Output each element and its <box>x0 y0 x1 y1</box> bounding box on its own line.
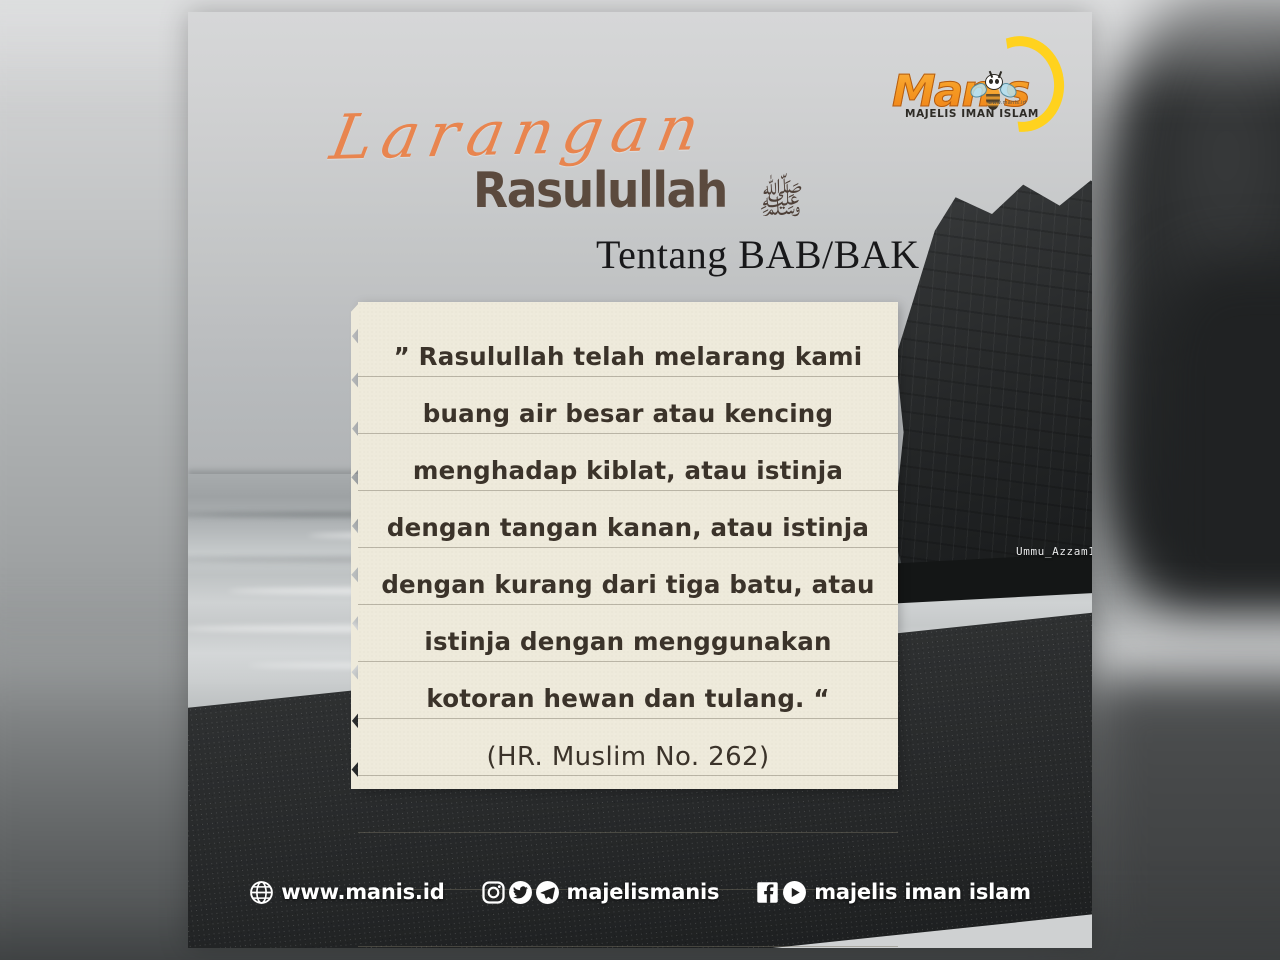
bee-head-icon <box>985 74 1003 90</box>
poster-stage: Ummu_Azzam13 Larangan Rasulullah ﷺ Tenta… <box>0 0 1280 960</box>
quote-line: menghadap kiblat, atau istinja <box>358 456 898 485</box>
youtube-icon[interactable] <box>782 880 807 905</box>
footer-group-social[interactable]: majelismanis <box>481 880 720 905</box>
poster-image: Ummu_Azzam13 Larangan Rasulullah ﷺ Tenta… <box>188 12 1092 948</box>
quote-line-text: Rasulullah telah melarang kami <box>419 342 863 371</box>
footer-social-label: majelismanis <box>567 880 720 904</box>
ruled-line <box>358 946 898 947</box>
header-sub-line: Tentang BAB/BAK <box>596 231 920 278</box>
quote-line: dengan tangan kanan, atau istinja <box>358 513 898 542</box>
ruled-line <box>358 832 898 833</box>
manis-logo[interactable]: Man s www.manis.id MAJELIS IMAN ISLAM <box>892 34 1070 142</box>
page-icon-set <box>755 880 807 905</box>
bee-eye-left-icon <box>989 79 993 84</box>
social-icon-set <box>481 880 560 905</box>
globe-icon <box>249 880 274 905</box>
logo-tagline: MAJELIS IMAN ISLAM <box>892 108 1052 120</box>
poster-footer: www.manis.id <box>188 857 1092 927</box>
header-main-row: Rasulullah ﷺ <box>473 162 804 219</box>
telegram-icon[interactable] <box>535 880 560 905</box>
twitter-icon[interactable] <box>508 880 533 905</box>
quote-text-block: ” Rasulullah telah melarang kami buang a… <box>358 302 898 789</box>
backdrop-rock-lower <box>1150 260 1280 620</box>
instagram-icon[interactable] <box>481 880 506 905</box>
bee-eye-right-icon <box>995 79 999 84</box>
bee-icon <box>976 72 1010 112</box>
quote-card: ” Rasulullah telah melarang kami buang a… <box>358 302 898 789</box>
footer-website-label: www.manis.id <box>281 880 444 904</box>
logo-micro-url: www.manis.id <box>988 100 1026 106</box>
honorific-arabic-glyph: ﷺ <box>758 183 804 217</box>
bee-antenna-left-icon <box>989 71 993 78</box>
photographer-watermark: Ummu_Azzam13 <box>1016 545 1092 558</box>
close-quote-mark: “ <box>813 684 829 713</box>
open-quote-mark: ” <box>394 342 410 371</box>
footer-group-pages[interactable]: majelis iman islam <box>755 880 1031 905</box>
bee-antenna-right-icon <box>998 71 1002 78</box>
footer-pages-label: majelis iman islam <box>814 880 1031 904</box>
quote-line: buang air besar atau kencing <box>358 399 898 428</box>
quote-line-text: kotoran hewan dan tulang. <box>426 684 804 713</box>
quote-line: istinja dengan menggunakan <box>358 627 898 656</box>
footer-group-website[interactable]: www.manis.id <box>249 880 444 905</box>
quote-line: kotoran hewan dan tulang. “ <box>358 684 898 713</box>
quote-line: dengan kurang dari tiga batu, atau <box>358 570 898 599</box>
facebook-icon[interactable] <box>755 880 780 905</box>
logo-wordmark: Man s <box>892 66 1052 112</box>
header-main-line: Rasulullah <box>473 162 727 219</box>
quote-line: ” Rasulullah telah melarang kami <box>358 342 898 371</box>
quote-attribution: (HR. Muslim No. 262) <box>358 742 898 772</box>
